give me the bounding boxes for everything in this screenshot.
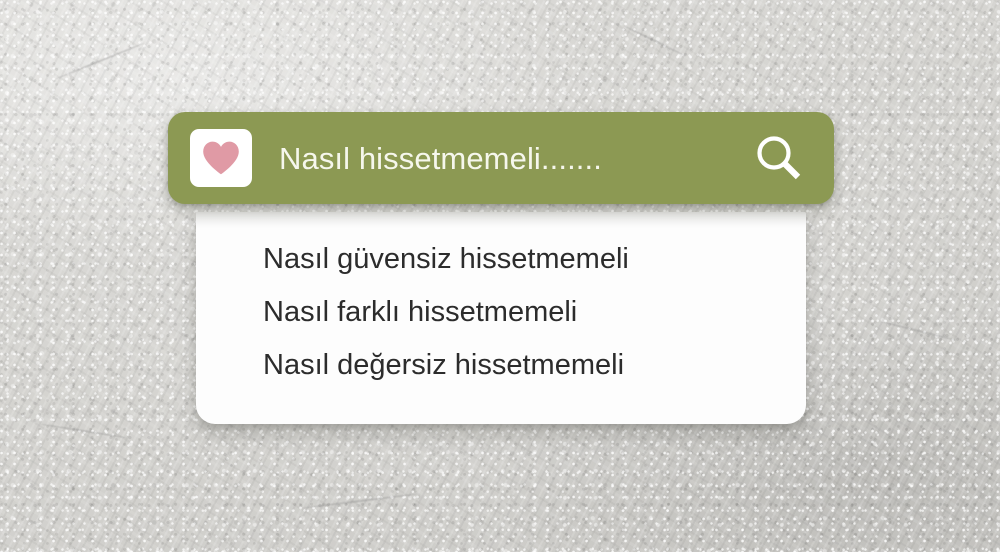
wall-scratch (40, 423, 127, 439)
wall-scratch (881, 321, 957, 342)
search-bar[interactable]: Nasıl hissetmemeli....... (168, 112, 834, 204)
search-icon (753, 132, 805, 184)
search-widget: Nasıl güvensiz hissetmemeli Nasıl farklı… (168, 112, 834, 204)
suggestion-item[interactable]: Nasıl değersiz hissetmemeli (196, 339, 806, 392)
search-suggestions-panel: Nasıl güvensiz hissetmemeli Nasıl farklı… (196, 212, 806, 424)
wall-scratch (55, 42, 145, 80)
wall-background: Nasıl güvensiz hissetmemeli Nasıl farklı… (0, 0, 1000, 552)
suggestion-item[interactable]: Nasıl güvensiz hissetmemeli (196, 233, 806, 286)
wall-scratch (300, 493, 419, 510)
search-button[interactable] (750, 129, 808, 187)
heart-icon (201, 140, 241, 176)
search-input[interactable]: Nasıl hissetmemeli....... (279, 143, 742, 174)
heart-icon-tile (190, 129, 252, 187)
wall-scratch (623, 25, 687, 57)
suggestion-item[interactable]: Nasıl farklı hissetmemeli (196, 286, 806, 339)
